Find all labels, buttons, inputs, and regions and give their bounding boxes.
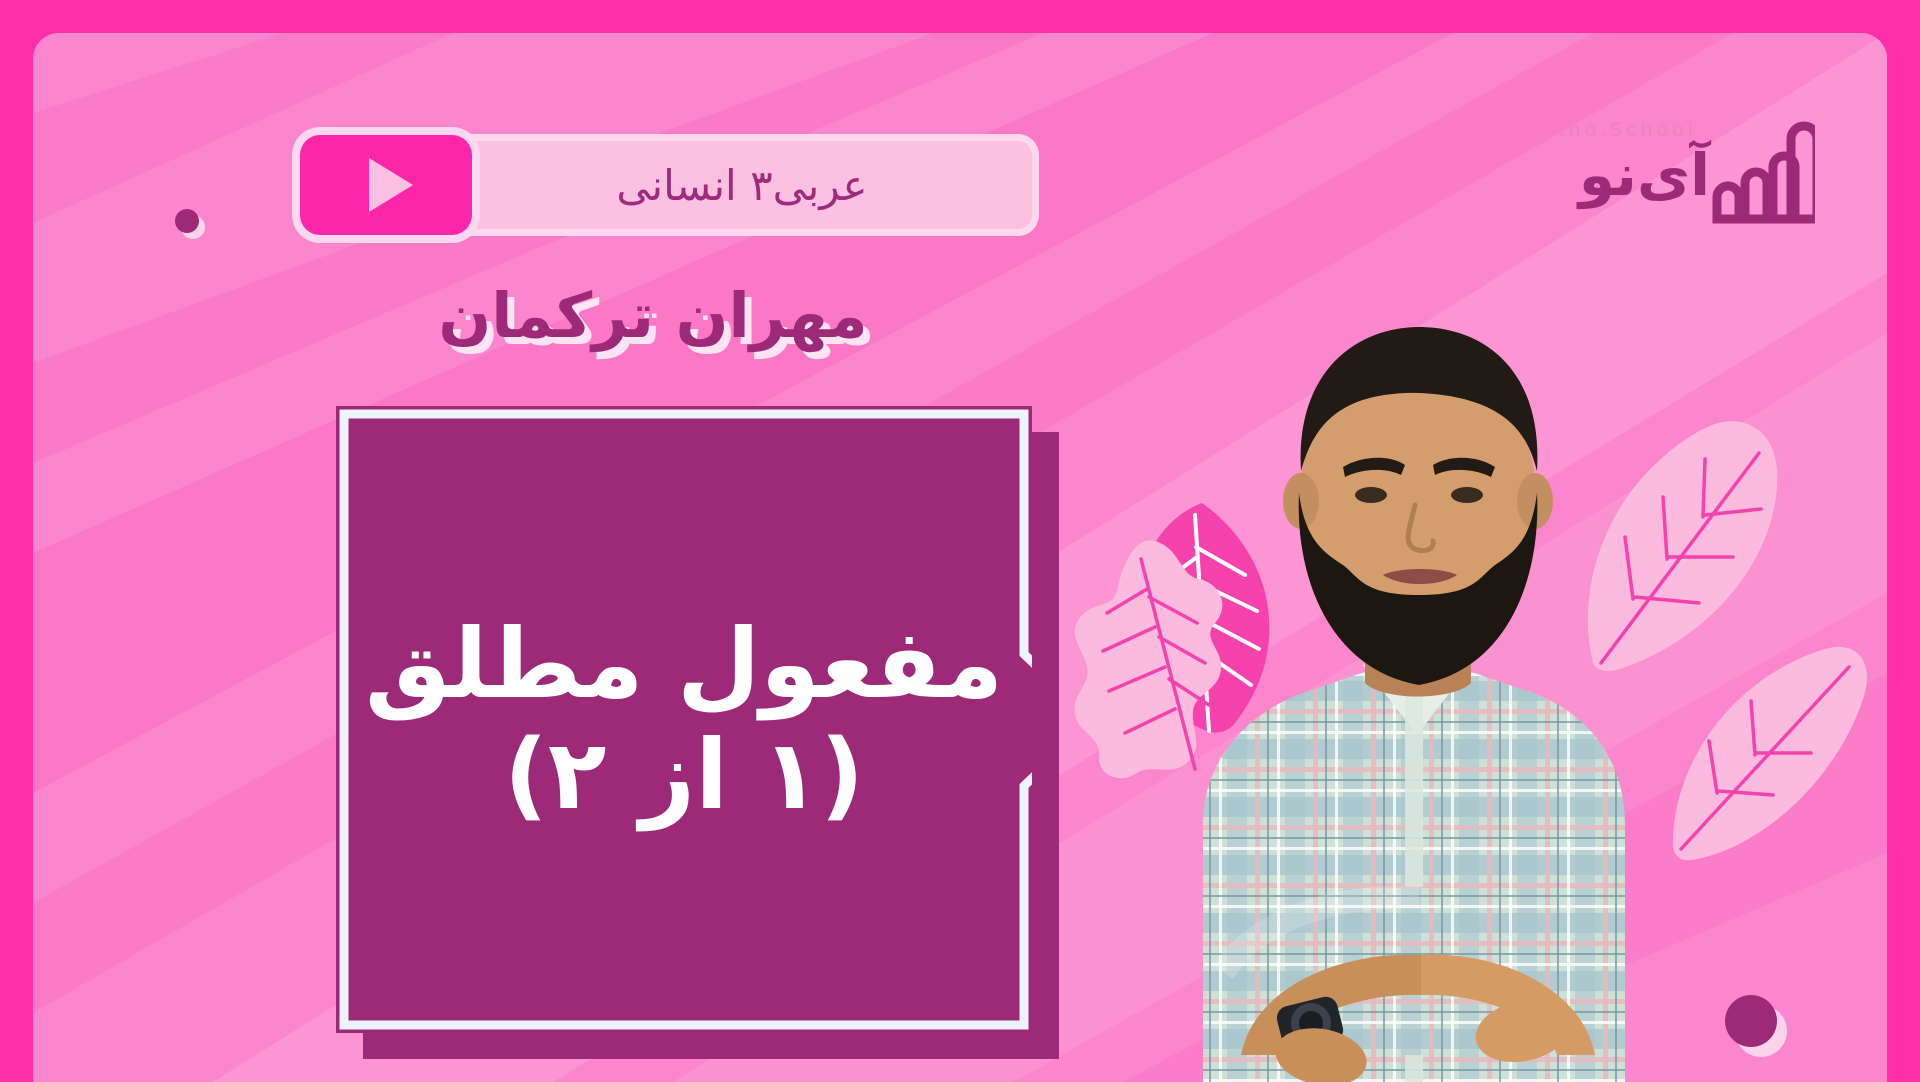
logo-subtitle: Ino.School xyxy=(1507,119,1697,141)
title-line-2: (۱ از ۲) xyxy=(504,720,864,830)
play-button[interactable] xyxy=(300,135,472,235)
decorative-dot-top-left xyxy=(175,209,199,233)
presenter-photo xyxy=(1043,265,1703,1082)
video-thumbnail: عربی۳ انسانی مهران ترکمان مفعول مطلق (۱ … xyxy=(0,0,1920,1082)
title-line-1: مفعول مطلق xyxy=(365,609,1003,719)
play-triangle-icon xyxy=(369,158,413,212)
instructor-name: مهران ترکمان xyxy=(33,279,1273,352)
brand-logo[interactable]: Ino.School آی‌نو xyxy=(1485,115,1815,233)
course-badge-label: عربی۳ انسانی xyxy=(472,161,1032,210)
course-badge[interactable]: عربی۳ انسانی xyxy=(306,141,1032,229)
logo-wordmark: آی‌نو xyxy=(1579,141,1710,209)
thumbnail-stage: عربی۳ انسانی مهران ترکمان مفعول مطلق (۱ … xyxy=(33,33,1887,1082)
title-text-group: مفعول مطلق (۱ از ۲) xyxy=(336,406,1032,1033)
decorative-dot-bottom-right xyxy=(1725,995,1777,1047)
ino-bars-logo-icon xyxy=(1705,119,1815,229)
